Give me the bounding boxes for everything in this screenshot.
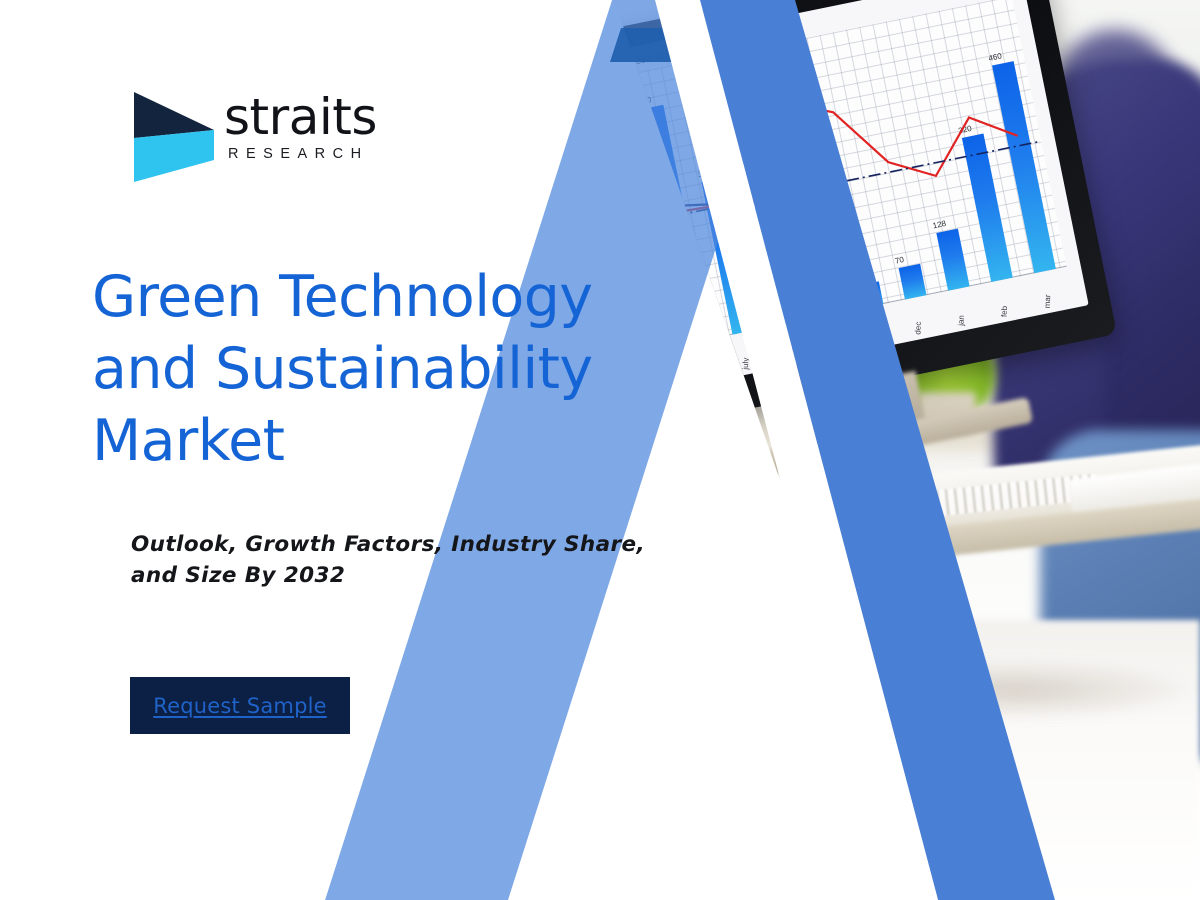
content-panel: straits RESEARCH Green Technology and Su…: [0, 0, 660, 900]
chart-x-label: mar: [1043, 294, 1053, 308]
brand-tagline: RESEARCH: [228, 146, 369, 162]
desk-leg: [865, 545, 905, 665]
chart-x-label: july: [741, 357, 751, 369]
office-photo: Data and prognosis of activity 440520340…: [600, 0, 1200, 900]
request-sample-label: Request Sample: [153, 694, 327, 718]
page-subtitle: Outlook, Growth Factors, Industry Share,…: [131, 530, 676, 591]
chart-x-label: aug: [784, 347, 794, 361]
brand-name: straits: [224, 92, 377, 142]
chart-x-label: dec: [913, 321, 923, 334]
chevron-arrow-logo-icon: [128, 86, 220, 186]
brand-logo[interactable]: straits RESEARCH: [128, 84, 378, 189]
poster-canvas: Data and prognosis of activity 440520340…: [0, 0, 1200, 900]
chart-x-label: nov: [870, 330, 880, 343]
page-title: Green Technology and Sustainability Mark…: [92, 262, 672, 477]
floor-shadow: [830, 660, 1200, 720]
chart-x-label: jan: [957, 315, 966, 326]
chart-x-label: june: [698, 363, 708, 379]
chart-line-prognosis: [614, 59, 1022, 237]
request-sample-button[interactable]: Request Sample: [130, 677, 350, 734]
chart-x-label: sep: [827, 339, 837, 352]
chart-reference-line: [610, 141, 1041, 229]
chart-x-label: feb: [1000, 306, 1009, 318]
